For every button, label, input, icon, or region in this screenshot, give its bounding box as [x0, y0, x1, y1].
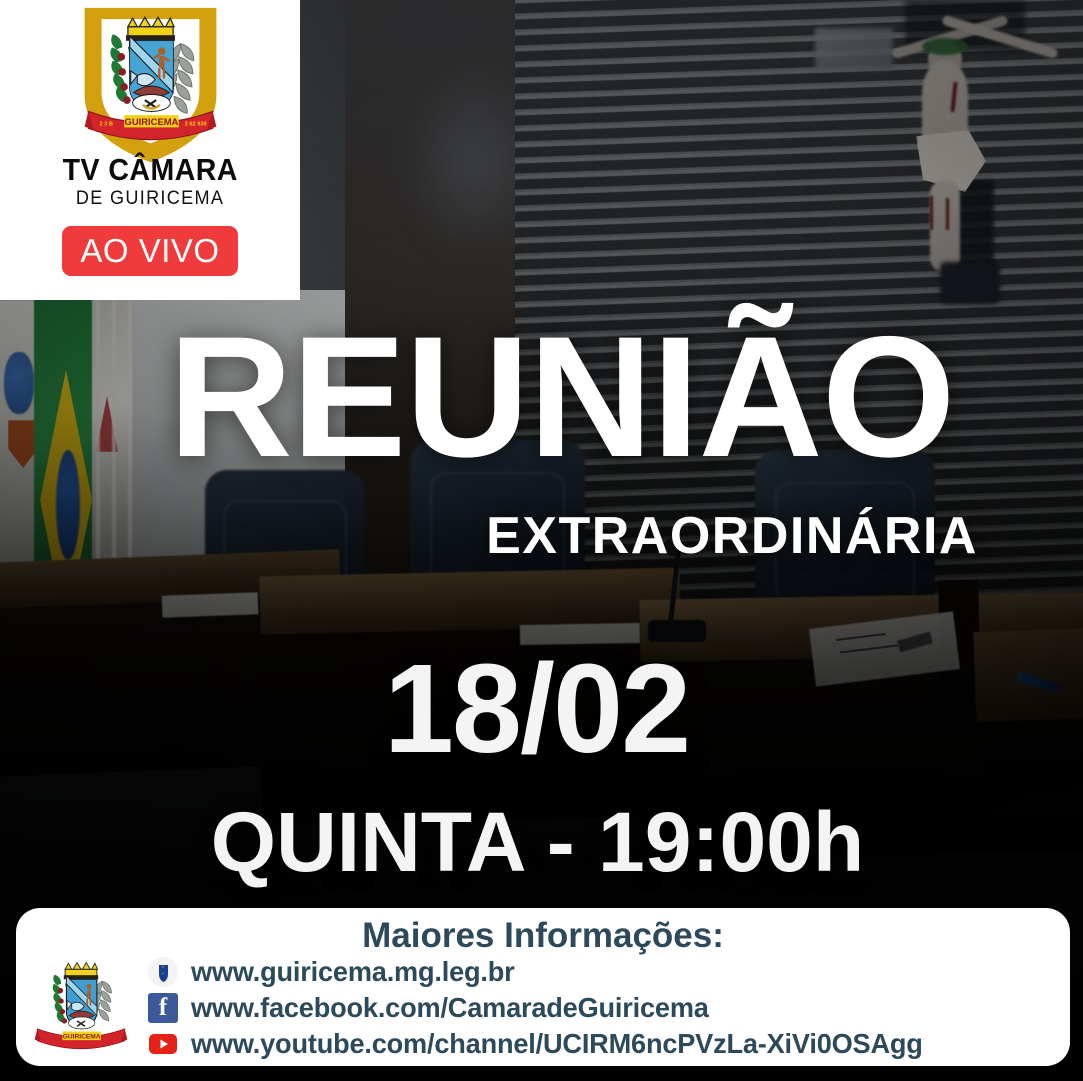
page-subtitle: EXTRAORDINÁRIA: [486, 506, 978, 566]
contact-links-list: www.guiricema.mg.leg.br f www.facebook.c…: [148, 954, 945, 1062]
link-row-youtube[interactable]: www.youtube.com/channel/UCIRM6ncPVzLa-Xi…: [148, 1026, 945, 1062]
tv-camara-title: TV CÂMARA: [62, 154, 237, 185]
footer-crest-banner-text: GUIRICEMA: [63, 1033, 101, 1040]
website-url: www.guiricema.mg.leg.br: [191, 956, 515, 988]
youtube-url: www.youtube.com/channel/UCIRM6ncPVzLa-Xi…: [191, 1028, 923, 1060]
footer-coat-of-arms-svg: GUIRICEMA: [28, 952, 134, 1070]
crest-right-numbers: 2 62 939: [184, 122, 206, 128]
youtube-icon: [148, 1029, 178, 1059]
poster-canvas: GUIRICEMA 2 3 B 2 62 939 TV CÂMARA DE GU…: [0, 0, 1083, 1081]
crest-left-numbers: 2 3 B: [99, 122, 112, 128]
interlegis-icon: [148, 957, 178, 987]
link-row-website[interactable]: www.guiricema.mg.leg.br: [148, 954, 945, 990]
contact-info-title: Maiores Informações:: [16, 908, 1070, 956]
link-row-facebook[interactable]: f www.facebook.com/CamaradeGuiricema: [148, 990, 945, 1026]
facebook-url: www.facebook.com/CamaradeGuiricema: [191, 992, 709, 1024]
coat-of-arms-svg: GUIRICEMA 2 3 B 2 62 939: [73, 6, 228, 166]
tv-camara-subtitle: DE GUIRICEMA: [76, 188, 224, 210]
meeting-date: 18/02: [0, 646, 1083, 772]
contact-info-panel: Maiores Informações:: [16, 908, 1070, 1066]
facebook-icon: f: [148, 993, 178, 1023]
crest-banner-text: GUIRICEMA: [124, 116, 178, 127]
coat-of-arms-crest: GUIRICEMA 2 3 B 2 62 939: [73, 6, 228, 166]
meeting-weekday-time: QUINTA - 19:00h: [0, 800, 1083, 884]
footer-coat-of-arms: GUIRICEMA: [28, 952, 134, 1070]
ao-vivo-badge[interactable]: AO VIVO: [62, 226, 238, 276]
tv-camara-logo-box: GUIRICEMA 2 3 B 2 62 939 TV CÂMARA DE GU…: [0, 0, 300, 300]
page-title: REUNIÃO: [0, 318, 1083, 476]
